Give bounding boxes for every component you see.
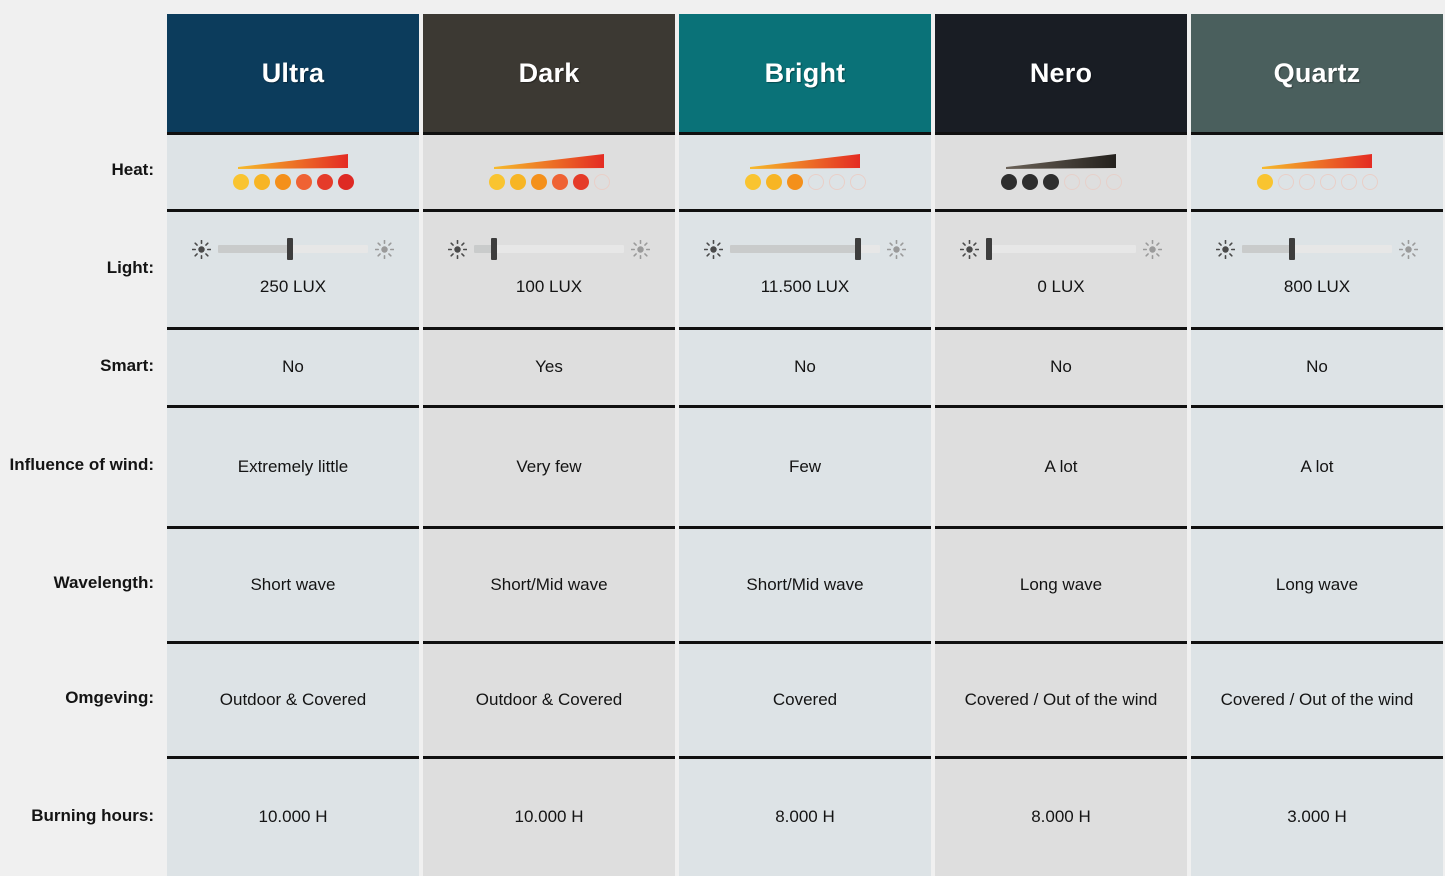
light-indicator: 800 LUX (1199, 240, 1435, 300)
cell-text: No (1306, 355, 1328, 380)
heat-dot-empty (1085, 174, 1101, 190)
table-cell: Short/Mid wave (423, 526, 675, 641)
slider-thumb[interactable] (491, 238, 497, 260)
cell-text: Few (789, 455, 821, 480)
column-header-label: Nero (1030, 58, 1092, 89)
row-label-text: Influence of wind: (10, 454, 155, 477)
slider-thumb[interactable] (986, 238, 992, 260)
heat-dot-filled (275, 174, 291, 190)
table-cell: Extremely little (167, 405, 419, 526)
sun-bright-icon (631, 240, 650, 259)
heat-dot-filled (1043, 174, 1059, 190)
row-label-omgeving: Omgeving: (0, 641, 165, 756)
lux-value: 100 LUX (516, 275, 582, 300)
table-cell: No (167, 327, 419, 405)
heat-wedge-icon (494, 154, 604, 171)
cell-text: Covered (773, 688, 837, 713)
slider-track[interactable] (986, 245, 1136, 253)
cell-text: Outdoor & Covered (220, 688, 366, 713)
table-cell: 8.000 H (679, 756, 931, 876)
lux-value: 11.500 LUX (761, 275, 850, 300)
cell-text: Extremely little (238, 455, 349, 480)
cell-text: Short wave (250, 573, 335, 598)
heat-indicator (490, 154, 608, 190)
table-cell: No (935, 327, 1187, 405)
row-label-smart: Smart: (0, 327, 165, 405)
cell-text: Covered / Out of the wind (1221, 688, 1414, 713)
table-cell (1191, 132, 1443, 209)
heat-dot-filled (317, 174, 333, 190)
table-cell: Covered / Out of the wind (935, 641, 1187, 756)
column-header-quartz[interactable]: Quartz (1191, 14, 1443, 132)
cell-text: 3.000 H (1287, 805, 1347, 830)
table-cell: 0 LUX (935, 209, 1187, 327)
row-label-heat: Heat: (0, 132, 165, 209)
heat-dot-empty (1106, 174, 1122, 190)
cell-text: 10.000 H (515, 805, 584, 830)
heat-wedge-icon (750, 154, 860, 171)
table-cell: Outdoor & Covered (167, 641, 419, 756)
light-slider[interactable] (1216, 240, 1418, 259)
sun-dim-icon (704, 240, 723, 259)
column-header-label: Dark (519, 58, 580, 89)
cell-text: Covered / Out of the wind (965, 688, 1158, 713)
column-header-dark[interactable]: Dark (423, 14, 675, 132)
table-cell: Very few (423, 405, 675, 526)
slider-thumb[interactable] (287, 238, 293, 260)
cell-text: Outdoor & Covered (476, 688, 622, 713)
heat-dot-filled (233, 174, 249, 190)
sun-bright-icon (1399, 240, 1418, 259)
heat-dots (1257, 174, 1378, 190)
cell-text: No (794, 355, 816, 380)
column-header-label: Ultra (262, 58, 325, 89)
sun-dim-icon (192, 240, 211, 259)
light-indicator: 11.500 LUX (687, 240, 923, 300)
table-cell: 100 LUX (423, 209, 675, 327)
table-cell: A lot (935, 405, 1187, 526)
heat-dot-filled (296, 174, 312, 190)
comparison-table: Ultra Dark Bright Nero Quartz Heat: (0, 0, 1445, 855)
heat-dot-filled (531, 174, 547, 190)
cell-text: 8.000 H (775, 805, 835, 830)
cell-text: A lot (1300, 455, 1333, 480)
heat-dot-filled (489, 174, 505, 190)
header-spacer (0, 0, 165, 132)
cell-text: Yes (535, 355, 563, 380)
row-label-text: Smart: (100, 355, 154, 378)
table-cell: Few (679, 405, 931, 526)
heat-dot-filled (338, 174, 354, 190)
table-cell: 8.000 H (935, 756, 1187, 876)
heat-dot-filled (510, 174, 526, 190)
table-cell: Outdoor & Covered (423, 641, 675, 756)
table-cell: 800 LUX (1191, 209, 1443, 327)
cell-text: Long wave (1020, 573, 1102, 598)
heat-indicator (234, 154, 352, 190)
cell-text: Very few (516, 455, 581, 480)
heat-dot-filled (745, 174, 761, 190)
column-header-nero[interactable]: Nero (935, 14, 1187, 132)
sun-dim-icon (1216, 240, 1235, 259)
heat-dots (489, 174, 610, 190)
heat-dot-filled (552, 174, 568, 190)
heat-dot-filled (787, 174, 803, 190)
row-label-text: Heat: (111, 159, 154, 182)
heat-dot-empty (850, 174, 866, 190)
table-cell: Yes (423, 327, 675, 405)
heat-dot-empty (1320, 174, 1336, 190)
table-cell: 10.000 H (167, 756, 419, 876)
column-header-bright[interactable]: Bright (679, 14, 931, 132)
slider-track[interactable] (474, 245, 624, 253)
heat-dot-empty (594, 174, 610, 190)
heat-dots (233, 174, 354, 190)
slider-thumb[interactable] (855, 238, 861, 260)
table-cell (935, 132, 1187, 209)
row-label-wavelength: Wavelength: (0, 526, 165, 641)
cell-text: Short/Mid wave (490, 573, 607, 598)
row-label-text: Wavelength: (54, 572, 154, 595)
table-cell: 250 LUX (167, 209, 419, 327)
lux-value: 800 LUX (1284, 275, 1350, 300)
heat-dot-filled (1022, 174, 1038, 190)
row-label-text: Omgeving: (65, 687, 154, 710)
table-cell: Covered / Out of the wind (1191, 641, 1443, 756)
sun-bright-icon (375, 240, 394, 259)
slider-track[interactable] (1242, 245, 1392, 253)
table-cell: 10.000 H (423, 756, 675, 876)
lux-value: 0 LUX (1037, 275, 1084, 300)
table-cell: Covered (679, 641, 931, 756)
heat-indicator (1258, 154, 1376, 190)
slider-track[interactable] (218, 245, 368, 253)
slider-thumb[interactable] (1289, 238, 1295, 260)
table-cell: Short wave (167, 526, 419, 641)
table-cell: No (1191, 327, 1443, 405)
cell-text: 8.000 H (1031, 805, 1091, 830)
heat-dot-empty (1299, 174, 1315, 190)
heat-dots (1001, 174, 1122, 190)
table-cell (167, 132, 419, 209)
slider-track[interactable] (730, 245, 880, 253)
lux-value: 250 LUX (260, 275, 326, 300)
heat-dot-filled (254, 174, 270, 190)
heat-dot-empty (1064, 174, 1080, 190)
light-slider[interactable] (192, 240, 394, 259)
heat-dots (745, 174, 866, 190)
heat-dot-empty (1362, 174, 1378, 190)
sun-dim-icon (448, 240, 467, 259)
cell-text: Long wave (1276, 573, 1358, 598)
column-header-label: Bright (765, 58, 846, 89)
heat-dot-empty (1341, 174, 1357, 190)
table-cell (423, 132, 675, 209)
cell-text: Short/Mid wave (746, 573, 863, 598)
heat-indicator (1002, 154, 1120, 190)
cell-text: No (1050, 355, 1072, 380)
slider-fill (1242, 245, 1292, 253)
row-label-wind: Influence of wind: (0, 405, 165, 526)
sun-bright-icon (887, 240, 906, 259)
light-indicator: 100 LUX (431, 240, 667, 300)
cell-text: 10.000 H (259, 805, 328, 830)
light-indicator: 0 LUX (943, 240, 1179, 300)
table-cell: No (679, 327, 931, 405)
slider-fill (730, 245, 858, 253)
slider-fill (218, 245, 290, 253)
table-cell: A lot (1191, 405, 1443, 526)
sun-dim-icon (960, 240, 979, 259)
table-cell: 3.000 H (1191, 756, 1443, 876)
heat-dot-empty (1278, 174, 1294, 190)
light-indicator: 250 LUX (175, 240, 411, 300)
sun-bright-icon (1143, 240, 1162, 259)
cell-text: A lot (1044, 455, 1077, 480)
column-header-label: Quartz (1274, 58, 1361, 89)
row-label-light: Light: (0, 209, 165, 327)
table-grid: Ultra Dark Bright Nero Quartz Heat: (0, 0, 1445, 876)
heat-dot-filled (1001, 174, 1017, 190)
heat-dot-filled (573, 174, 589, 190)
light-slider[interactable] (448, 240, 650, 259)
cell-text: No (282, 355, 304, 380)
heat-dot-empty (808, 174, 824, 190)
column-header-ultra[interactable]: Ultra (167, 14, 419, 132)
heat-dot-filled (766, 174, 782, 190)
table-cell (679, 132, 931, 209)
heat-wedge-icon (1006, 154, 1116, 171)
row-label-burning_hours: Burning hours: (0, 756, 165, 876)
table-cell: Long wave (1191, 526, 1443, 641)
light-slider[interactable] (704, 240, 906, 259)
heat-dot-filled (1257, 174, 1273, 190)
heat-wedge-icon (1262, 154, 1372, 171)
row-label-text: Light: (107, 257, 154, 280)
table-cell: Long wave (935, 526, 1187, 641)
heat-dot-empty (829, 174, 845, 190)
heat-indicator (746, 154, 864, 190)
table-cell: 11.500 LUX (679, 209, 931, 327)
light-slider[interactable] (960, 240, 1162, 259)
table-cell: Short/Mid wave (679, 526, 931, 641)
row-label-text: Burning hours: (31, 805, 154, 828)
heat-wedge-icon (238, 154, 348, 171)
